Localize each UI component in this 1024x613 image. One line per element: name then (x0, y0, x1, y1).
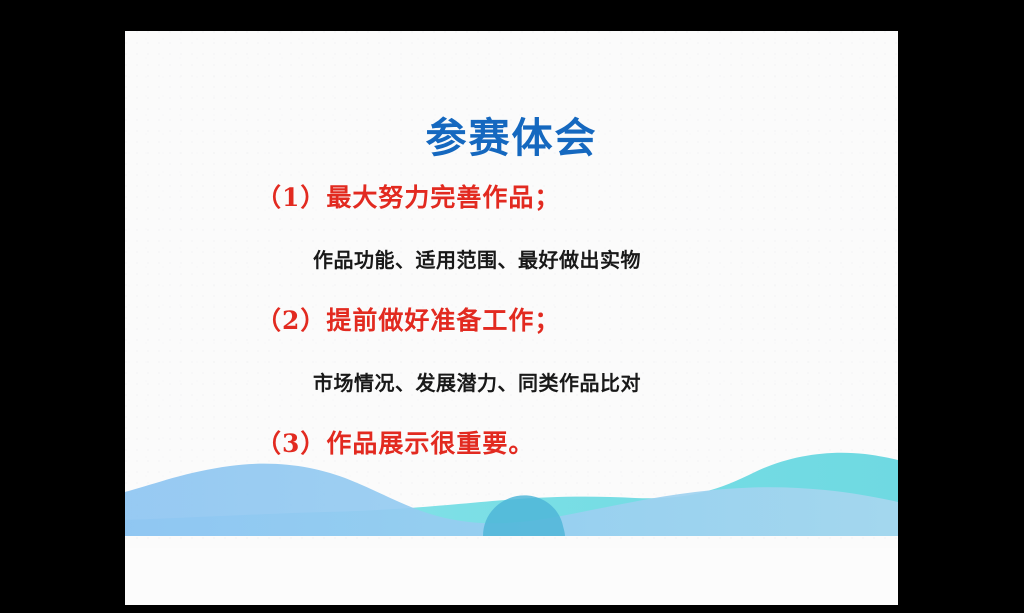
bullet-line-5: （3）作品展示很重要。 (256, 424, 878, 460)
page-title: 参赛体会 (125, 115, 898, 162)
bullet-line-3: （2）提前做好准备工作； (256, 301, 878, 337)
wave-front-path (125, 464, 898, 536)
screen: 参赛体会 （1）最大努力完善作品； 作品功能、适用范围、最好做出实物 （2）提前… (0, 0, 1024, 613)
presentation-slide: 参赛体会 （1）最大努力完善作品； 作品功能、适用范围、最好做出实物 （2）提前… (125, 31, 898, 605)
bullet-line-2: 作品功能、适用范围、最好做出实物 (313, 244, 878, 273)
bullet-line-4: 市场情况、发展潜力、同类作品比对 (313, 367, 878, 396)
wave-overlap-dome (483, 495, 565, 536)
wave-back-path (125, 453, 898, 536)
slide-footer-strip (125, 548, 898, 605)
bullet-line-1: （1）最大努力完善作品； (256, 178, 878, 214)
slide-body: （1）最大努力完善作品； 作品功能、适用范围、最好做出实物 （2）提前做好准备工… (256, 178, 878, 460)
wave-decoration (125, 448, 898, 548)
